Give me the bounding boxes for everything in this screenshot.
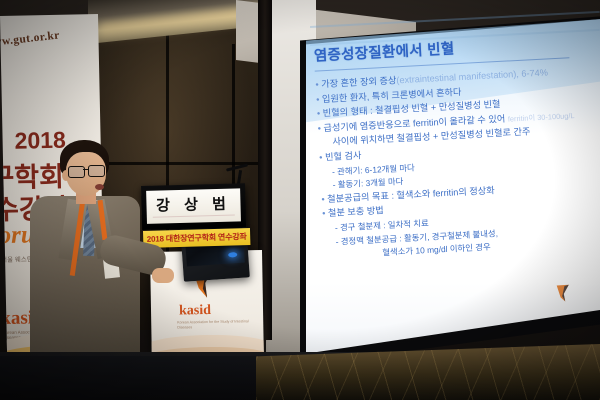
slide-content: 염증성장질환에서 빈혈 • 가장 흔한 장외 증상(extraintestina…	[306, 4, 600, 357]
slide-body: 염증성장질환에서 빈혈 • 가장 흔한 장외 증상(extraintestina…	[313, 30, 600, 263]
eyeglass-lens-right	[88, 165, 105, 177]
speaker-hand	[152, 268, 174, 283]
slide-title: 염증성장질환에서 빈혈	[313, 30, 594, 66]
eyeglass-lens-left	[68, 166, 85, 178]
kasid-logo-watermark-icon	[552, 282, 575, 305]
conference-photo-scene: 염증성장질환에서 빈혈 • 가장 흔한 장외 증상(extraintestina…	[0, 0, 600, 400]
speaker-name-sign: 강 상 범	[141, 183, 246, 230]
event-title-text: 2018 대한장연구학회 연수강좌	[143, 231, 250, 245]
speaker-mouth	[95, 184, 104, 190]
speaker-eyeglasses	[68, 166, 104, 176]
floor-shadow-area	[0, 356, 270, 400]
banner-year: 2018	[14, 127, 66, 155]
name-sign-paper: 강 상 범	[146, 188, 241, 223]
banner-url: www.gut.or.kr	[0, 30, 60, 50]
podium-logo-text: kasid	[179, 303, 211, 320]
event-title-strip: 2018 대한장연구학회 연수강좌	[143, 228, 250, 248]
podium-logo-subtext: Korean Association for the Study of Inte…	[177, 319, 263, 330]
speaker-name-text: 강 상 범	[146, 192, 241, 215]
eyeglass-bridge	[83, 169, 88, 170]
